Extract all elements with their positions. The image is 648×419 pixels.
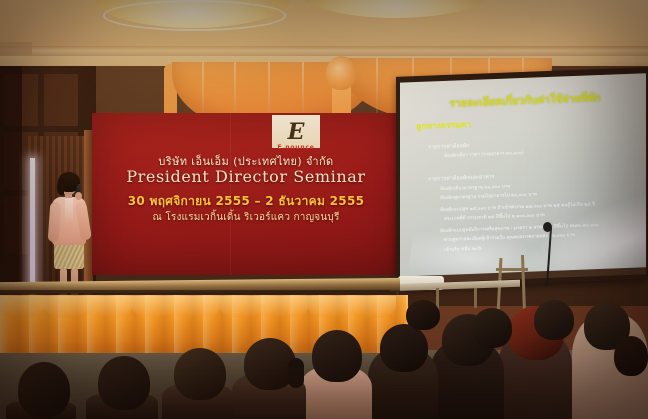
ceiling-light-icon <box>95 0 290 28</box>
drape-rosette <box>326 56 356 90</box>
slide-line: รายการค่าห้องพักและอาหาร <box>428 173 495 184</box>
attendee-head <box>614 336 648 376</box>
attendee-head <box>18 362 70 418</box>
logo-wordmark: E.nounce <box>272 144 320 151</box>
ceiling-vent <box>0 42 32 55</box>
slide-line: ประเภทที่มี ธรรมชาติ ๒๕ ปีขึ้นไป ๒ ๑๐๐,๐… <box>444 212 545 223</box>
conference-hall-photo: E E.nounce บริษัท เอ็นเอ็ม (ประเทศไทย) จ… <box>0 0 648 419</box>
slide-line: ห้องพักเดี่ยว ราคา (รวมอาหาร ๓๐,๐๐๐) <box>444 150 524 160</box>
presenter-hair-side <box>57 179 64 195</box>
attendee-head <box>472 308 512 348</box>
attendee-ponytail <box>288 358 304 388</box>
presenter-skirt <box>54 242 84 269</box>
banner-date-line: 30 พฤศจิกายน 2555 – 2 ธันวาคม 2555 <box>92 192 400 211</box>
attendee-head <box>406 300 440 330</box>
slide-subtitle: ลูกทางธรรมดา <box>416 117 471 133</box>
slide-line: ห้องพักคู่มาตรฐาน รวมไปอาหารไป ๓๐,๐๐๐ บา… <box>440 191 537 202</box>
microphone-icon <box>543 222 552 232</box>
attendee-head <box>174 348 226 400</box>
attendee-head <box>534 300 574 340</box>
presenter-hand <box>75 192 82 200</box>
attendee-head <box>98 356 150 410</box>
wall-tile <box>44 74 78 126</box>
attendee-head <box>380 324 428 372</box>
slide-title: รายละเอียดเกี่ยวกับค่าใช้จ่ายที่พัก <box>418 88 632 113</box>
slide-line: ห้องพักเดี่ยวมาตรฐาน ๓๐,๐๐๐ บาท <box>440 183 510 193</box>
attendee-head <box>312 330 362 382</box>
banner-venue-line: ณ โรงแรมเวกิ้นเดิ้น ริเวอร์แคว กาญจนบุรี <box>92 210 400 225</box>
banner-english-title: President Director Seminar <box>92 167 400 186</box>
audience <box>0 300 648 419</box>
logo-monogram: E <box>288 121 305 143</box>
screen-surface: รายละเอียดเกี่ยวกับค่าใช้จ่ายที่พัก ลูกท… <box>400 73 646 282</box>
slide-line: รายการค่าห้องพัก <box>428 142 469 152</box>
ceiling-soffit <box>0 46 648 56</box>
left-wall-shadow <box>0 66 22 314</box>
presenter-lapel <box>65 198 73 224</box>
